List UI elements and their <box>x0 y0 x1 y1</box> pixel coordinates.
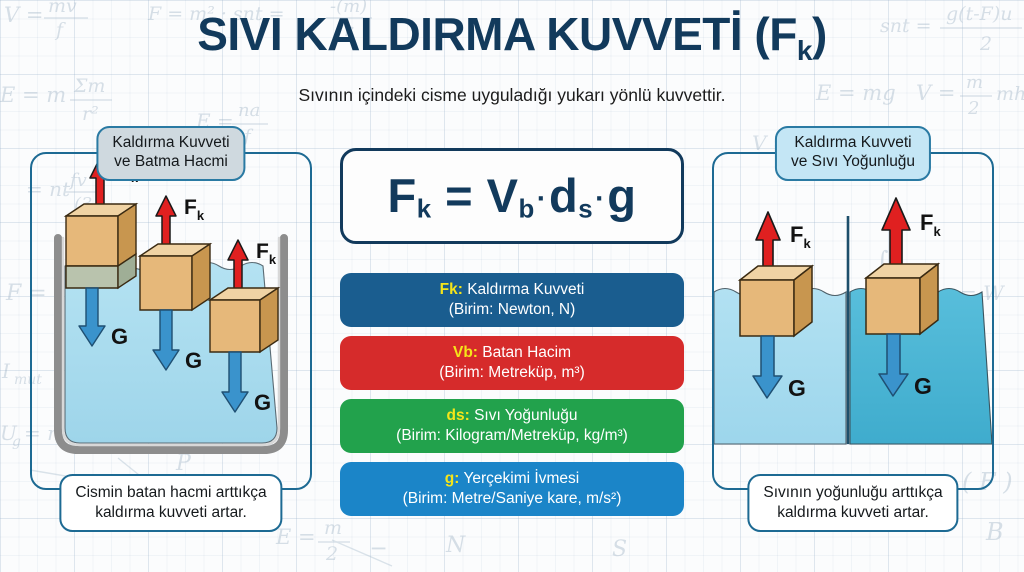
force-down-label-2: G <box>185 348 202 373</box>
svg-text:─: ─ <box>371 537 386 562</box>
buoyancy-formula: Fk = Vb·ds·g <box>387 168 636 225</box>
panel-left-caption: Cismin batan hacmi arttıkça kaldırma kuv… <box>59 474 282 532</box>
force-down-label-right: G <box>914 373 932 399</box>
formula-term2: d <box>549 169 578 222</box>
formula-dot2: · <box>593 183 607 215</box>
force-down-label-3: G <box>254 390 271 415</box>
legend-item-ds: ds: Sıvı Yoğunluğu (Birim: Kilogram/Metr… <box>340 399 684 453</box>
panel-buoyancy-vs-volume: Kaldırma Kuvveti ve Batma Hacmi <box>30 152 312 490</box>
panel-left-caption-line2: kaldırma kuvveti artar. <box>75 503 266 522</box>
formula-term1: V <box>487 169 519 222</box>
panel-buoyancy-vs-density: Kaldırma Kuvveti ve Sıvı Yoğunluğu <box>712 152 994 490</box>
legend-item-fk: Fk: Kaldırma Kuvveti (Birim: Newton, N) <box>340 273 684 327</box>
formula-term3: g <box>607 169 636 222</box>
formula-lhs-subscript: k <box>417 195 432 223</box>
panel-right-header-line2: ve Sıvı Yoğunluğu <box>791 153 915 172</box>
legend-key-ds: ds: <box>447 407 470 424</box>
svg-text:2: 2 <box>325 543 338 565</box>
page-title-main: SIVI KALDIRMA KUVVETİ (F <box>197 8 797 60</box>
force-up-label-2: Fk <box>184 196 205 223</box>
panel-right-caption-line2: kaldırma kuvveti artar. <box>763 503 942 522</box>
svg-text:I: I <box>1 359 11 383</box>
panel-right-caption-line1: Sıvının yoğunluğu arttıkça <box>763 483 942 502</box>
svg-text:S: S <box>612 537 627 562</box>
page-title-subscript: k <box>797 35 812 66</box>
legend-unit-fk: (Birim: Newton, N) <box>350 300 674 320</box>
page-title-tail: ) <box>812 8 827 60</box>
legend-key-vb: Vb: <box>453 344 478 361</box>
legend-label-vb: Batan Hacim <box>482 344 571 361</box>
svg-text:B: B <box>985 518 1004 546</box>
panel-left-header-line2: ve Batma Hacmi <box>112 153 229 172</box>
legend-unit-g: (Birim: Metre/Saniye kare, m/s²) <box>350 489 674 509</box>
legend-label-fk: Kaldırma Kuvveti <box>467 281 584 298</box>
panel-right-header: Kaldırma Kuvveti ve Sıvı Yoğunluğu <box>775 126 931 181</box>
svg-text:U: U <box>0 421 18 445</box>
formula-equals: = <box>445 169 473 222</box>
formula-box: Fk = Vb·ds·g <box>340 148 684 244</box>
variable-legend-list: Fk: Kaldırma Kuvveti (Birim: Newton, N) … <box>340 273 684 525</box>
legend-key-fk: Fk: <box>440 281 463 298</box>
force-up-label-right: Fk <box>920 210 941 239</box>
legend-item-g: g: Yerçekimi İvmesi (Birim: Metre/Saniye… <box>340 462 684 516</box>
formula-dot1: · <box>535 183 549 215</box>
svg-text:N: N <box>445 533 466 558</box>
legend-key-g: g: <box>445 470 460 487</box>
svg-text:r²: r² <box>82 103 99 125</box>
panel-left-header-line1: Kaldırma Kuvveti <box>112 134 229 153</box>
formula-term1-subscript: b <box>519 195 535 223</box>
formula-term2-subscript: s <box>578 195 593 223</box>
svg-text:E =: E = <box>275 525 316 549</box>
panel-right-caption: Sıvının yoğunluğu arttıkça kaldırma kuvv… <box>747 474 958 532</box>
panel-left-caption-line1: Cismin batan hacmi arttıkça <box>75 483 266 502</box>
beaker-diagram: Fk G Fk <box>32 154 310 488</box>
legend-item-vb: Vb: Batan Hacim (Birim: Metreküp, m³) <box>340 336 684 390</box>
formula-lhs: F <box>387 169 416 222</box>
two-tank-density-diagram: Fk G Fk G <box>714 154 992 488</box>
legend-label-g: Yerçekimi İvmesi <box>463 470 579 487</box>
force-down-label-left: G <box>788 375 806 401</box>
legend-unit-vb: (Birim: Metreküp, m³) <box>350 363 674 383</box>
infographic-poster: V = mv f F = m² · snt = -(m) r E = m Σm … <box>0 0 1024 572</box>
page-title: SIVI KALDIRMA KUVVETİ (Fk) <box>0 10 1024 65</box>
panel-right-header-line1: Kaldırma Kuvveti <box>791 134 915 153</box>
force-up-label-3: Fk <box>256 240 277 267</box>
panel-left-header: Kaldırma Kuvveti ve Batma Hacmi <box>96 126 245 181</box>
force-up-label-left: Fk <box>790 222 811 251</box>
page-subtitle: Sıvının içindeki cisme uyguladığı yukarı… <box>0 85 1024 106</box>
legend-label-ds: Sıvı Yoğunluğu <box>474 407 577 424</box>
legend-unit-ds: (Birim: Kilogram/Metreküp, kg/m³) <box>350 426 674 446</box>
force-down-label-1: G <box>111 324 128 349</box>
svg-text:g: g <box>12 434 21 450</box>
